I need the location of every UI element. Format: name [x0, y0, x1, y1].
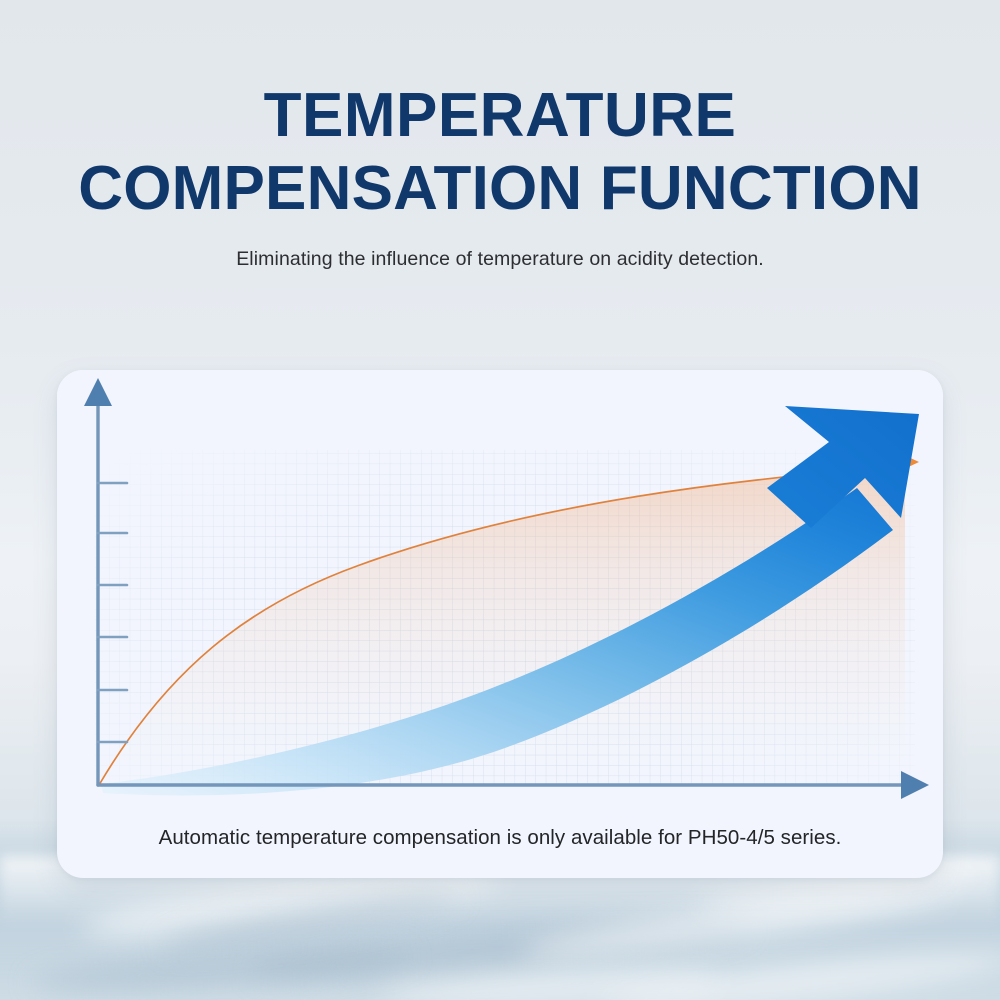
chart-caption: Automatic temperature compensation is on…: [57, 826, 943, 850]
page-subtitle: Eliminating the influence of temperature…: [0, 248, 1000, 271]
temperature-compensation-chart: [57, 370, 943, 810]
page-title-line-1: TEMPERATURE: [0, 86, 1000, 147]
heading-block: TEMPERATURE COMPENSATION FUNCTION Elimin…: [0, 86, 1000, 271]
chart-card: Automatic temperature compensation is on…: [57, 370, 943, 878]
page-title-line-2: COMPENSATION FUNCTION: [0, 159, 1000, 220]
page-root: TEMPERATURE COMPENSATION FUNCTION Elimin…: [0, 0, 1000, 1000]
wave-streak: [29, 942, 410, 998]
chart-area: Automatic temperature compensation is on…: [57, 370, 943, 878]
